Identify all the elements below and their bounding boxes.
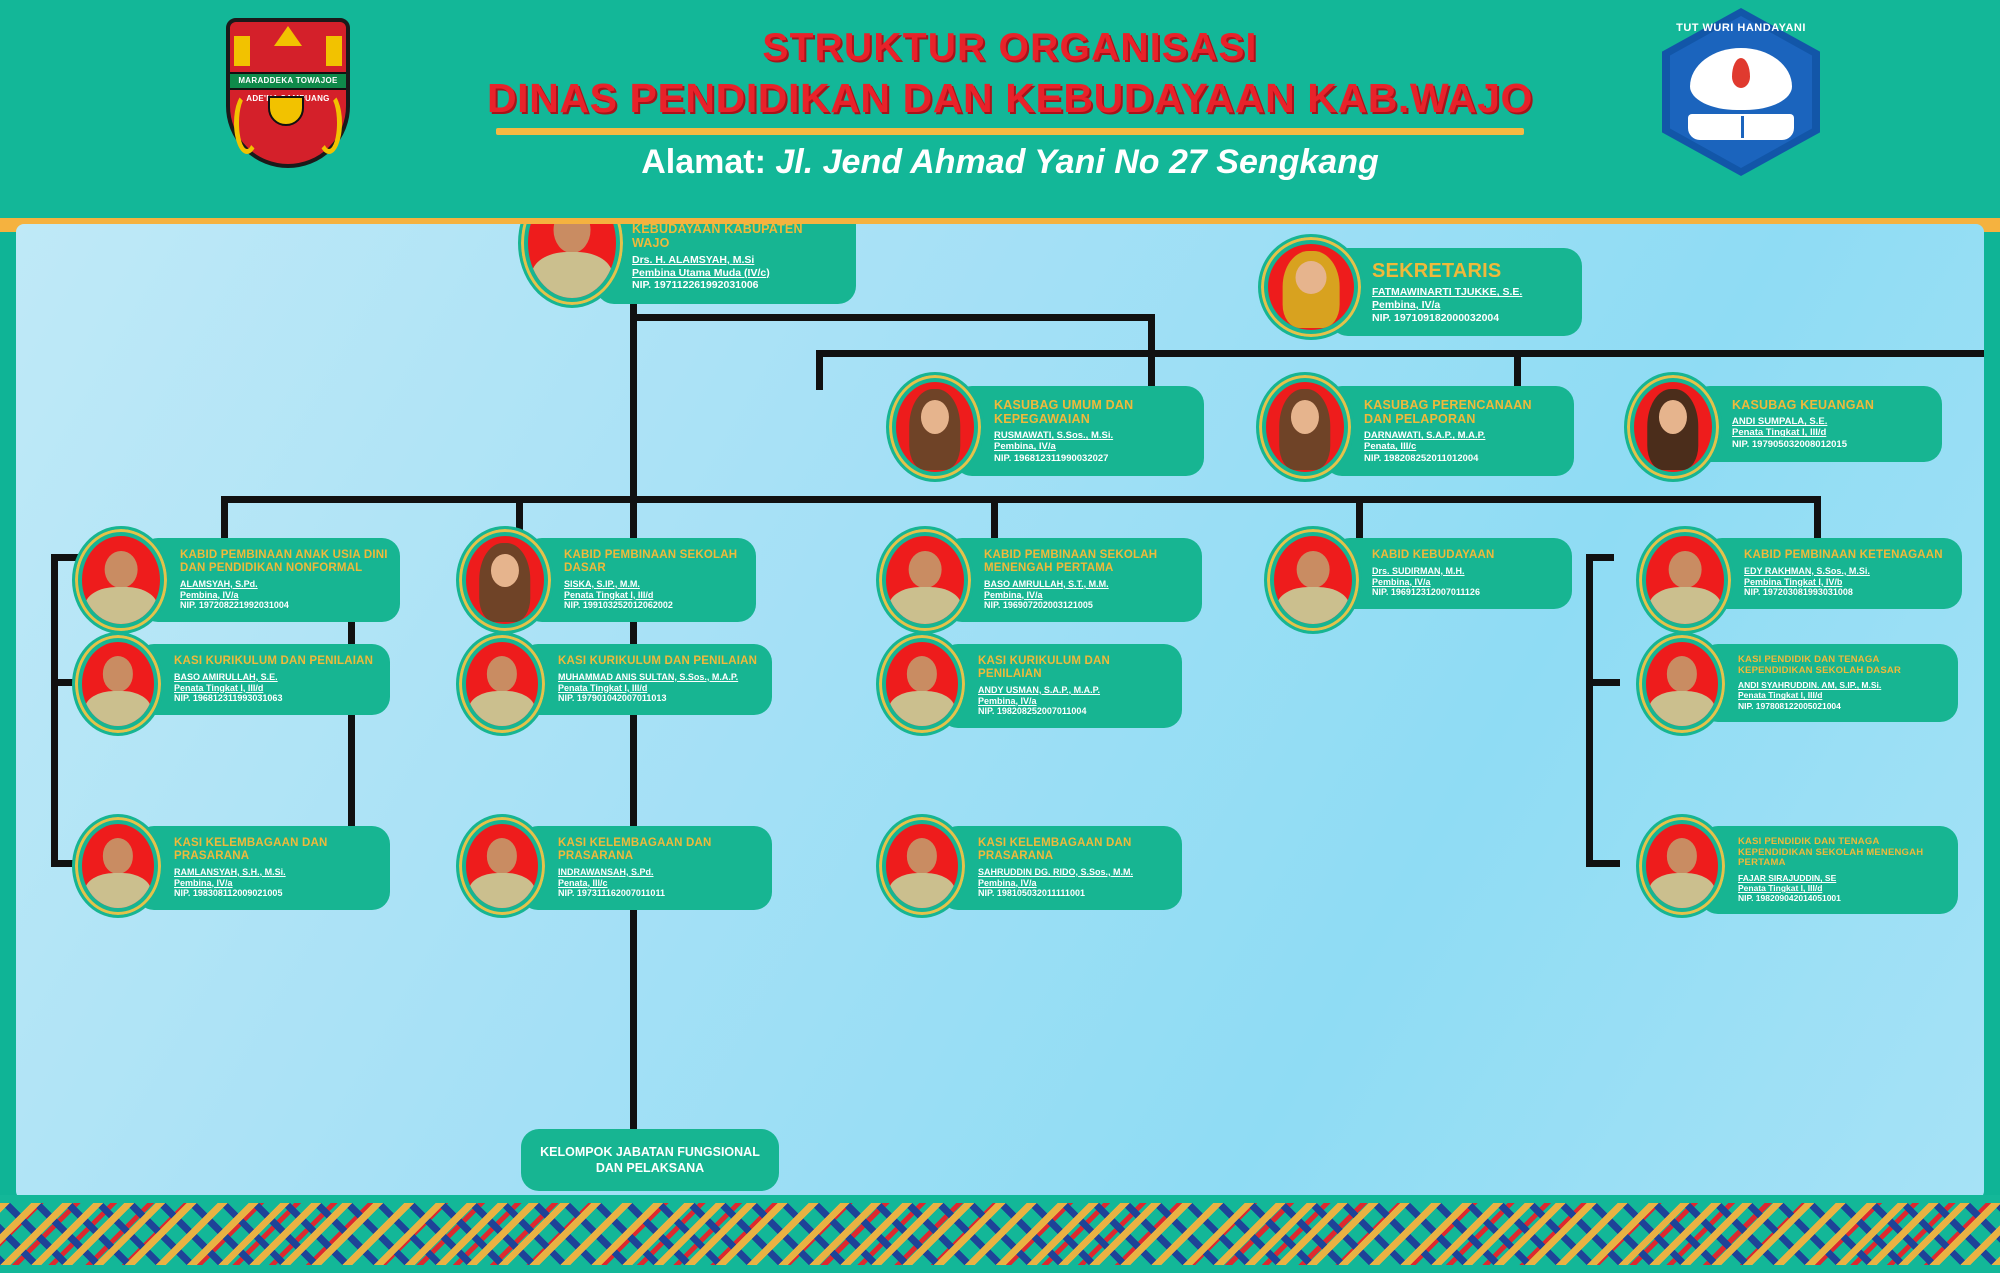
card-kabid-smp[interactable]: KABID PEMBINAAN SEKOLAH MENENGAH PERTAMA…: [944, 538, 1202, 622]
address-line: Alamat: Jl. Jend Ahmad Yani No 27 Sengka…: [420, 143, 1600, 182]
person-nip: NIP. 198208252007011004: [978, 706, 1170, 717]
card-kasubag-umum[interactable]: KASUBAG UMUM DAN KEPEGAWAIAN RUSMAWATI, …: [954, 386, 1204, 476]
person-name: Drs. H. ALAMSYAH, M.Si: [632, 254, 842, 267]
person-name: ANDY USMAN, S.A.P., M.A.P.: [978, 685, 1170, 696]
page-title-line1: STRUKTUR ORGANISASI: [420, 26, 1600, 71]
person-name: EDY RAKHMAN, S.Sos., M.Si.: [1744, 566, 1950, 577]
person-nip: NIP. 196907202003121005: [984, 600, 1190, 611]
person-rank: Penata, III/c: [558, 878, 760, 889]
person-rank: Penata Tingkat I, III/d: [1738, 883, 1946, 893]
person-rank: Pembina, IV/a: [180, 590, 388, 601]
person-nip: NIP. 197901042007011013: [558, 693, 760, 704]
person-name: RUSMAWATI, S.Sos., M.Si.: [994, 430, 1190, 441]
person-rank: Penata, III/c: [1364, 441, 1560, 452]
person-rank: Penata Tingkat I, III/d: [564, 590, 744, 601]
avatar-kasubag-perencanaan: [1256, 372, 1354, 482]
address-value: Jl. Jend Ahmad Yani No 27 Sengkang: [775, 143, 1378, 181]
fungsional-label: KELOMPOK JABATAN FUNGSIONAL DAN PELAKSAN…: [537, 1144, 763, 1177]
role-title: KASI KELEMBAGAAN DAN PRASARANA: [174, 837, 378, 863]
person-nip: NIP. 197208221992031004: [180, 600, 388, 611]
person-rank: Pembina Tingkat I, IV/b: [1744, 577, 1950, 588]
tut-wuri-motto-text: TUT WURI HANDAYANI: [1662, 22, 1820, 34]
role-title: SEKRETARIS: [1372, 260, 1568, 282]
card-kabid-paud[interactable]: KABID PEMBINAAN ANAK USIA DINI DAN PENDI…: [140, 538, 400, 622]
person-rank: Pembina, IV/a: [978, 696, 1170, 707]
role-title: KABID PEMBINAAN SEKOLAH MENENGAH PERTAMA: [984, 549, 1190, 575]
org-chart-page: MARADDEKA TOWAJOE ADE'NA SAMPUANG STRUKT…: [0, 0, 2000, 1273]
page-title-line2: DINAS PENDIDIKAN DAN KEBUDAYAAN KAB.WAJO: [420, 75, 1600, 122]
card-kasubag-perencanaan[interactable]: KASUBAG PERENCANAAN DAN PELAPORAN DARNAW…: [1324, 386, 1574, 476]
role-title: KASI KURIKULUM DAN PENILAIAN: [558, 655, 760, 668]
page-footer-pattern: [0, 1195, 2000, 1273]
person-name: SAHRUDDIN DG. RIDO, S.Sos., M.M.: [978, 867, 1170, 878]
card-kasi-kelembagaan-sd[interactable]: KASI KELEMBAGAAN DAN PRASARANA INDRAWANS…: [520, 826, 772, 910]
person-rank: Penata Tingkat I, III/d: [1738, 690, 1946, 700]
role-title: KABID PEMBINAAN SEKOLAH DASAR: [564, 549, 744, 575]
person-name: RAMLANSYAH, S.H., M.Si.: [174, 867, 378, 878]
person-nip: NIP. 198208252011012004: [1364, 453, 1560, 464]
person-name: SISKA, S.IP., M.M.: [564, 579, 744, 590]
crest-motto-text: MARADDEKA TOWAJOE ADE'NA SAMPUANG: [230, 72, 346, 90]
kabupaten-wajo-crest-logo: MARADDEKA TOWAJOE ADE'NA SAMPUANG: [218, 12, 358, 172]
person-name: ALAMSYAH, S.Pd.: [180, 579, 388, 590]
card-kabid-ketenagaan[interactable]: KABID PEMBINAAN KETENAGAAN EDY RAKHMAN, …: [1704, 538, 1962, 609]
person-name: ANDI SYAHRUDDIN. AM, S.IP., M.Si.: [1738, 680, 1946, 690]
org-chart-canvas: KEPALA DINAS PENDIDIKAN DAN KEBUDAYAAN K…: [16, 224, 1984, 1199]
person-name: Drs. SUDIRMAN, M.H.: [1372, 566, 1560, 577]
card-kasubag-keuangan[interactable]: KASUBAG KEUANGAN ANDI SUMPALA, S.E. Pena…: [1692, 386, 1942, 462]
role-title: KABID PEMBINAAN ANAK USIA DINI DAN PENDI…: [180, 549, 388, 575]
person-name: DARNAWATI, S.A.P., M.A.P.: [1364, 430, 1560, 441]
person-nip: NIP. 196912312007011126: [1372, 587, 1560, 598]
header-title-block: STRUKTUR ORGANISASI DINAS PENDIDIKAN DAN…: [420, 26, 1600, 182]
person-nip: NIP. 199103252012062002: [564, 600, 744, 611]
avatar-kabid-paud: [72, 526, 170, 634]
role-title: KASI KURIKULUM DAN PENILAIAN: [174, 655, 378, 668]
person-rank: Pembina, IV/a: [1372, 299, 1568, 312]
role-title: KASI PENDIDIK DAN TENAGA KEPENDIDIKAN SE…: [1738, 837, 1946, 869]
role-title: KASI KURIKULUM DAN PENILAIAN: [978, 655, 1170, 681]
card-kasi-kurikulum-smp[interactable]: KASI KURIKULUM DAN PENILAIAN ANDY USMAN,…: [940, 644, 1182, 728]
person-rank: Pembina, IV/a: [984, 590, 1190, 601]
person-nip: NIP. 198308112009021005: [174, 888, 378, 899]
person-nip: NIP. 196812311993031063: [174, 693, 378, 704]
person-nip: NIP. 197311162007011011: [558, 888, 760, 899]
avatar-kepala-dinas: [518, 224, 626, 308]
address-label: Alamat:: [641, 143, 766, 181]
person-rank: Pembina, IV/a: [978, 878, 1170, 889]
person-rank: Penata Tingkat I, III/d: [174, 683, 378, 694]
avatar-sekretaris: [1258, 234, 1364, 340]
role-title: KASUBAG UMUM DAN KEPEGAWAIAN: [994, 398, 1190, 426]
person-nip: NIP. 197112261992031006: [632, 279, 842, 292]
zigzag-ornament-overlay: [0, 1203, 2000, 1265]
person-name: ANDI SUMPALA, S.E.: [1732, 416, 1928, 427]
person-name: BASO AMRULLAH, S.T., M.M.: [984, 579, 1190, 590]
person-rank: Penata Tingkat I, III/d: [1732, 427, 1928, 438]
role-title: KASUBAG KEUANGAN: [1732, 398, 1928, 412]
card-kasi-kelembagaan-smp[interactable]: KASI KELEMBAGAAN DAN PRASARANA SAHRUDDIN…: [940, 826, 1182, 910]
title-divider: [496, 128, 1524, 135]
person-name: BASO AMIRULLAH, S.E.: [174, 672, 378, 683]
person-rank: Pembina, IV/a: [1372, 577, 1560, 588]
role-title: KEPALA DINAS PENDIDIKAN DAN KEBUDAYAAN K…: [632, 224, 842, 250]
avatar-kasubag-umum: [886, 372, 984, 482]
person-rank: Penata Tingkat I, III/d: [558, 683, 760, 694]
person-name: MUHAMMAD ANIS SULTAN, S.Sos., M.A.P.: [558, 672, 760, 683]
avatar-kasi-kelembagaan-sd: [456, 814, 548, 918]
person-name: FAJAR SIRAJUDDIN, SE: [1738, 873, 1946, 883]
avatar-kasi-ptk-smp: [1636, 814, 1728, 918]
role-title: KABID PEMBINAAN KETENAGAAN: [1744, 549, 1950, 562]
person-name: FATMAWINARTI TJUKKE, S.E.: [1372, 286, 1568, 299]
card-kabid-kebudayaan[interactable]: KABID KEBUDAYAAN Drs. SUDIRMAN, M.H. Pem…: [1332, 538, 1572, 609]
role-title: KASI PENDIDIK DAN TENAGA KEPENDIDIKAN SE…: [1738, 655, 1946, 676]
role-title: KASUBAG PERENCANAAN DAN PELAPORAN: [1364, 398, 1560, 426]
card-kasi-kurikulum-paud[interactable]: KASI KURIKULUM DAN PENILAIAN BASO AMIRUL…: [136, 644, 390, 715]
card-sekretaris[interactable]: SEKRETARIS FATMAWINARTI TJUKKE, S.E. Pem…: [1330, 248, 1582, 336]
person-nip: NIP. 197905032008012015: [1732, 439, 1928, 450]
card-kasi-ptk-smp[interactable]: KASI PENDIDIK DAN TENAGA KEPENDIDIKAN SE…: [1700, 826, 1958, 914]
tut-wuri-handayani-logo: TUT WURI HANDAYANI: [1662, 8, 1820, 176]
card-kasi-kurikulum-sd[interactable]: KASI KURIKULUM DAN PENILAIAN MUHAMMAD AN…: [520, 644, 772, 715]
node-kelompok-jabatan-fungsional[interactable]: KELOMPOK JABATAN FUNGSIONAL DAN PELAKSAN…: [521, 1129, 779, 1191]
avatar-kasi-kelembagaan-smp: [876, 814, 968, 918]
role-title: KASI KELEMBAGAAN DAN PRASARANA: [978, 837, 1170, 863]
person-name: INDRAWANSAH, S.Pd.: [558, 867, 760, 878]
avatar-kasi-kurikulum-sd: [456, 632, 548, 736]
avatar-kabid-ketenagaan: [1636, 526, 1734, 634]
person-nip: NIP. 197109182000032004: [1372, 312, 1568, 325]
person-rank: Pembina, IV/a: [994, 441, 1190, 452]
person-rank: Pembina Utama Muda (IV/c): [632, 267, 842, 280]
person-rank: Pembina, IV/a: [174, 878, 378, 889]
role-title: KASI KELEMBAGAAN DAN PRASARANA: [558, 837, 760, 863]
card-kabid-sd[interactable]: KABID PEMBINAAN SEKOLAH DASAR SISKA, S.I…: [524, 538, 756, 622]
avatar-kabid-sd: [456, 526, 554, 634]
person-nip: NIP. 198209042014051001: [1738, 893, 1946, 903]
person-nip: NIP. 197808122005021004: [1738, 701, 1946, 711]
avatar-kasi-kurikulum-paud: [72, 632, 164, 736]
avatar-kabid-kebudayaan: [1264, 526, 1362, 634]
card-kasi-ptk-sd[interactable]: KASI PENDIDIK DAN TENAGA KEPENDIDIKAN SE…: [1700, 644, 1958, 722]
role-title: KABID KEBUDAYAAN: [1372, 549, 1560, 562]
person-nip: NIP. 196812311990032027: [994, 453, 1190, 464]
person-nip: NIP. 197203081993031008: [1744, 587, 1950, 598]
person-nip: NIP. 198105032011111001: [978, 888, 1170, 899]
avatar-kasi-ptk-sd: [1636, 632, 1728, 736]
avatar-kasubag-keuangan: [1624, 372, 1722, 482]
avatar-kabid-smp: [876, 526, 974, 634]
card-kasi-kelembagaan-paud[interactable]: KASI KELEMBAGAAN DAN PRASARANA RAMLANSYA…: [136, 826, 390, 910]
page-header: MARADDEKA TOWAJOE ADE'NA SAMPUANG STRUKT…: [0, 0, 2000, 218]
card-kepala-dinas[interactable]: KEPALA DINAS PENDIDIKAN DAN KEBUDAYAAN K…: [596, 224, 856, 304]
avatar-kasi-kelembagaan-paud: [72, 814, 164, 918]
avatar-kasi-kurikulum-smp: [876, 632, 968, 736]
